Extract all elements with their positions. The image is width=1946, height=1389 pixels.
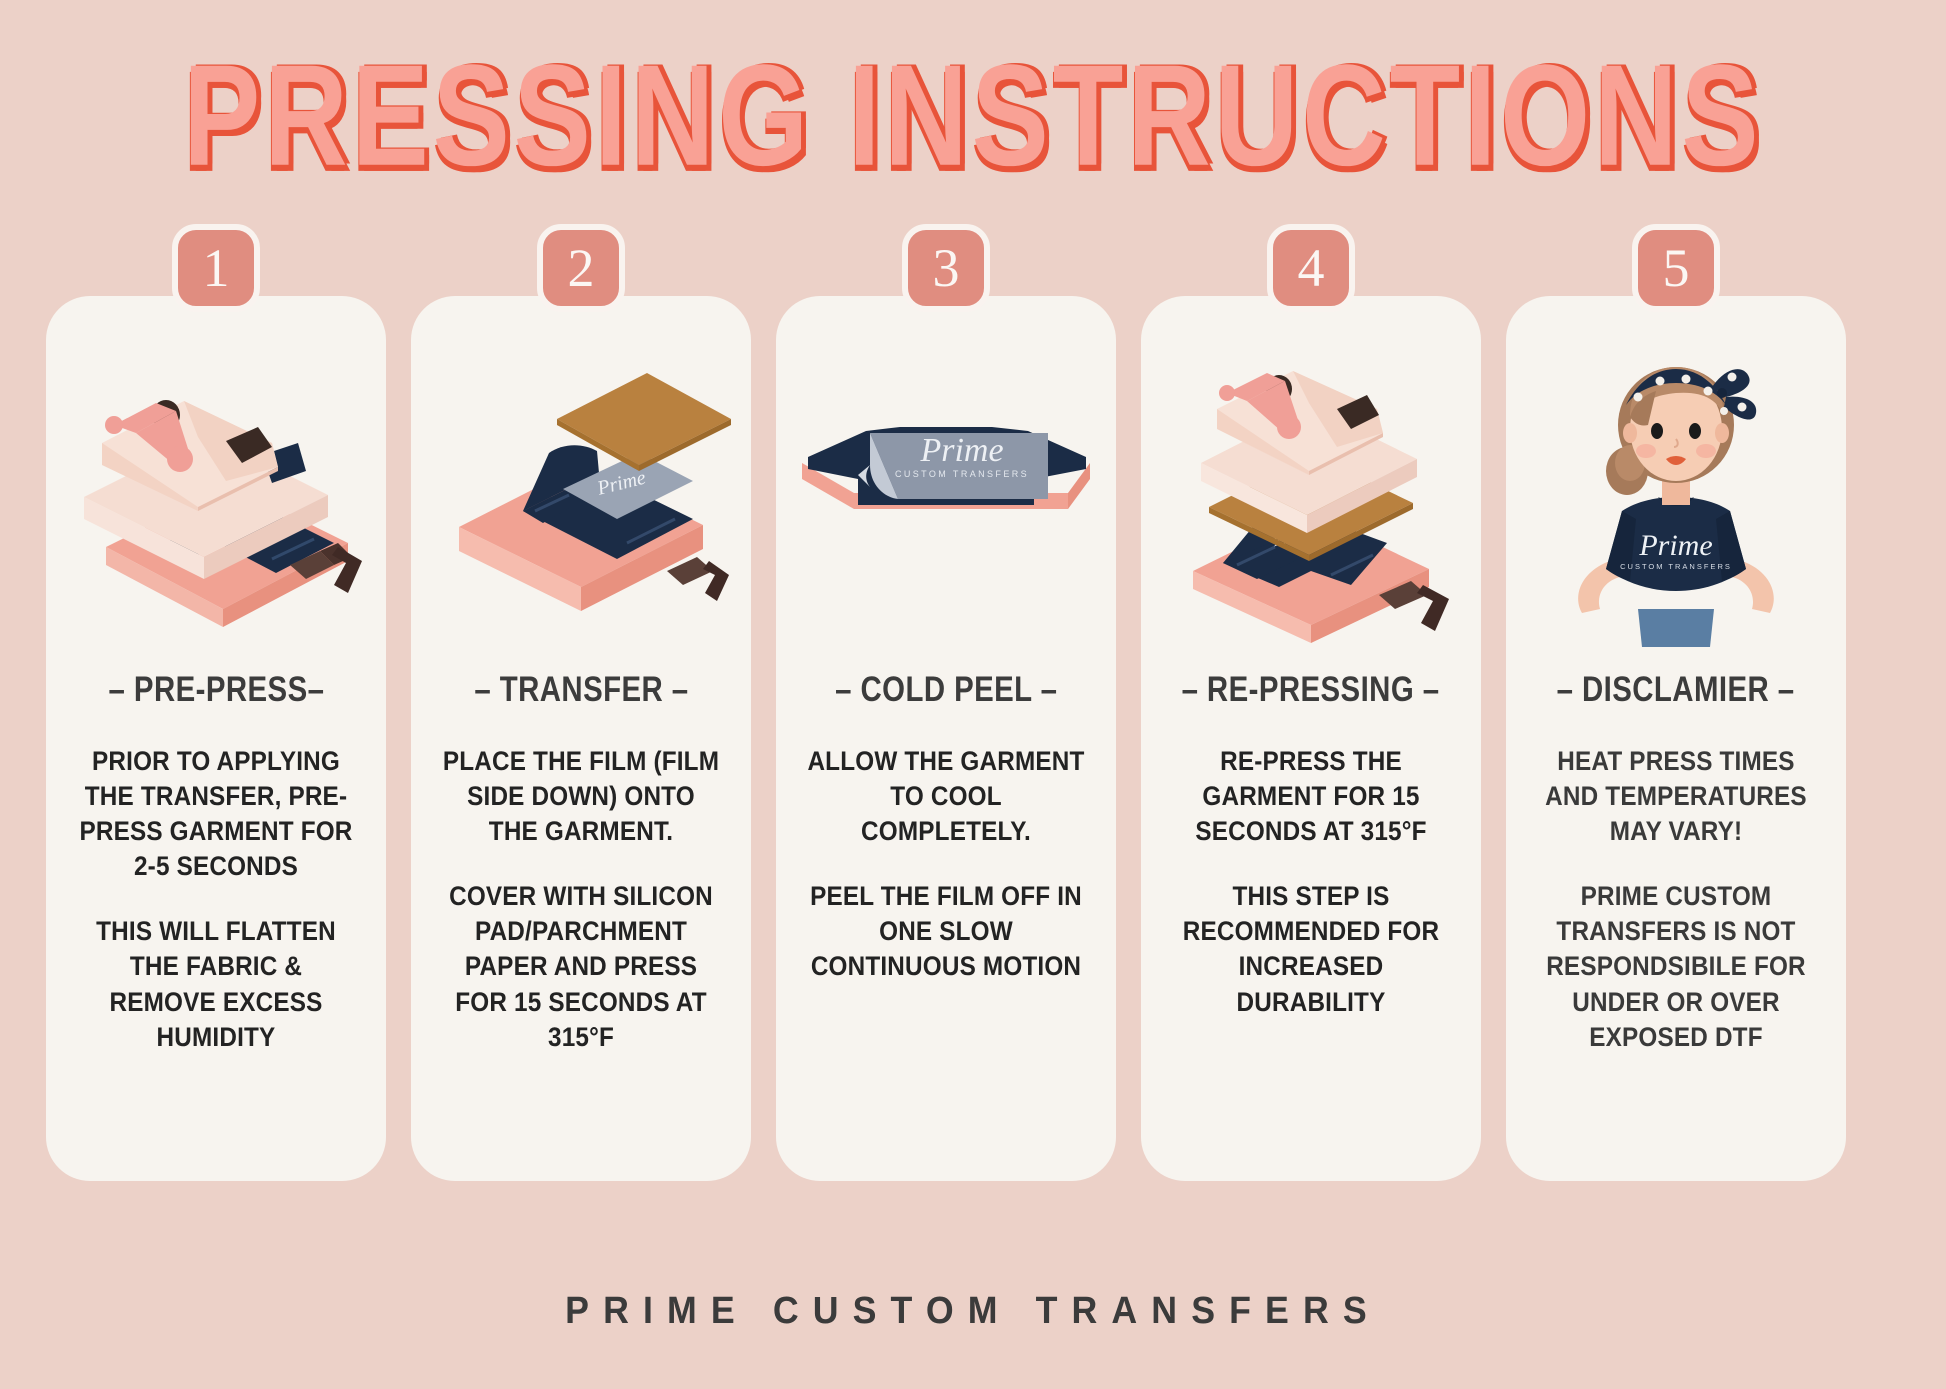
step-heading-4: – RE-PRESSING – xyxy=(1182,670,1440,710)
svg-text:CUSTOM TRANSFERS: CUSTOM TRANSFERS xyxy=(1620,562,1732,571)
step-paragraph: THIS STEP IS RECOMMENDED FOR INCREASED D… xyxy=(1171,879,1452,1019)
svg-text:Prime: Prime xyxy=(919,432,1003,469)
step-paragraph: PRIME CUSTOM TRANSFERS IS NOT RESPONDSIB… xyxy=(1536,879,1817,1054)
woman-wearing-tshirt-illustration: Prime CUSTOM TRANSFERS xyxy=(1506,332,1846,662)
heat-press-exploded-illustration: Prime xyxy=(1141,332,1481,662)
step-card-1: 1 xyxy=(46,296,386,1181)
step-body-4: RE-PRESS THE GARMENT FOR 15 SECONDS AT 3… xyxy=(1141,744,1481,1020)
page-title: PRESSING INSTRUCTIONS xyxy=(183,44,1762,188)
step-heading-2: – TRANSFER – xyxy=(474,670,688,710)
step-paragraph: ALLOW THE GARMENT TO COOL COMPLETELY. xyxy=(806,744,1087,849)
steps-container: 1 xyxy=(46,296,1900,1181)
step-heading-3: – COLD PEEL – xyxy=(835,670,1057,710)
step-card-5: 5 Prime CUSTOM TRANSFERS xyxy=(1506,296,1846,1181)
step-heading-5: – DISCLAMIER – xyxy=(1557,670,1795,710)
step-number-badge-4: 4 xyxy=(1267,224,1355,312)
step-paragraph: RE-PRESS THE GARMENT FOR 15 SECONDS AT 3… xyxy=(1171,744,1452,849)
step-paragraph: PLACE THE FILM (FILM SIDE DOWN) ONTO THE… xyxy=(441,744,722,849)
step-card-3: 3 Prime CUSTOM TRANSFERS – COLD PEEL – xyxy=(776,296,1116,1181)
step-paragraph: PEEL THE FILM OFF IN ONE SLOW CONTINUOUS… xyxy=(806,879,1087,984)
step-heading-1: – PRE-PRESS– xyxy=(108,670,324,710)
tshirt-film-peel-illustration: Prime CUSTOM TRANSFERS xyxy=(776,332,1116,662)
step-number-badge-1: 1 xyxy=(172,224,260,312)
step-number-badge-3: 3 xyxy=(902,224,990,312)
svg-text:Prime: Prime xyxy=(1638,529,1712,562)
step-number-badge-2: 2 xyxy=(537,224,625,312)
step-body-2: PLACE THE FILM (FILM SIDE DOWN) ONTO THE… xyxy=(411,744,751,1055)
page-header: PRESSING INSTRUCTIONS xyxy=(0,44,1946,174)
step-body-5: HEAT PRESS TIMES AND TEMPERATURES MAY VA… xyxy=(1506,744,1846,1055)
step-paragraph: PRIOR TO APPLYING THE TRANSFER, PRE-PRES… xyxy=(76,744,357,884)
step-card-2: 2 Prime xyxy=(411,296,751,1181)
brand-footer: PRIME CUSTOM TRANSFERS xyxy=(58,1290,1887,1333)
heat-press-closed-illustration xyxy=(46,332,386,662)
step-body-3: ALLOW THE GARMENT TO COOL COMPLETELY. PE… xyxy=(776,744,1116,985)
step-paragraph: COVER WITH SILICON PAD/PARCHMENT PAPER A… xyxy=(441,879,722,1054)
step-paragraph: HEAT PRESS TIMES AND TEMPERATURES MAY VA… xyxy=(1536,744,1817,849)
step-body-1: PRIOR TO APPLYING THE TRANSFER, PRE-PRES… xyxy=(46,744,386,1055)
step-number-badge-5: 5 xyxy=(1632,224,1720,312)
step-paragraph: THIS WILL FLATTEN THE FABRIC & REMOVE EX… xyxy=(76,914,357,1054)
svg-text:CUSTOM TRANSFERS: CUSTOM TRANSFERS xyxy=(895,469,1029,479)
step-card-4: 4 Prime xyxy=(1141,296,1481,1181)
parchment-over-film-illustration: Prime xyxy=(411,332,751,662)
